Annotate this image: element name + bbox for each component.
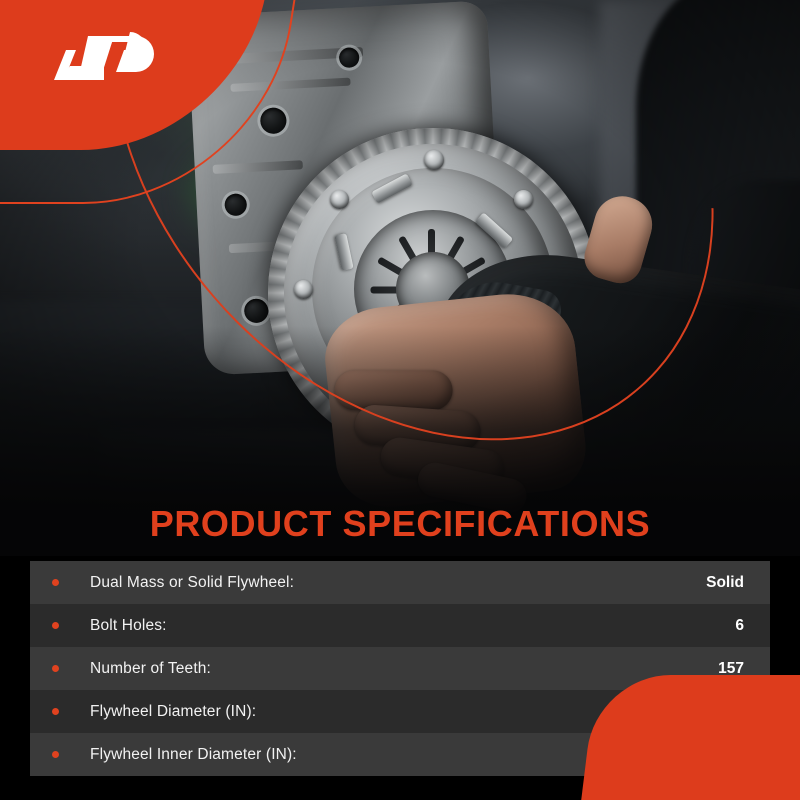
bullet-icon [52,579,59,586]
spec-value: Solid [706,574,744,592]
table-row: Bolt Holes: 6 [30,604,770,647]
bullet-icon [52,622,59,629]
hero-photo [0,0,800,556]
spec-label: Number of Teeth: [90,660,718,678]
product-spec-card: PRODUCT SPECIFICATIONS Dual Mass or Soli… [0,0,800,800]
section-title: PRODUCT SPECIFICATIONS [0,503,800,545]
bullet-icon [52,751,59,758]
bullet-icon [52,665,59,672]
spec-value: 6 [735,617,744,635]
ap-monogram-logo [40,22,172,94]
spec-label: Dual Mass or Solid Flywheel: [90,574,706,592]
bullet-icon [52,708,59,715]
spec-label: Bolt Holes: [90,617,735,635]
table-row: Dual Mass or Solid Flywheel: Solid [30,561,770,604]
